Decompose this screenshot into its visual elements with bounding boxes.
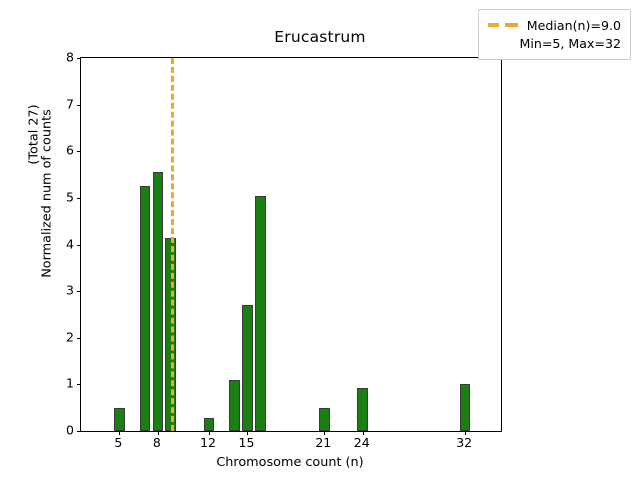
y-axis-tick-label: 3 [52, 283, 74, 298]
bar [140, 186, 151, 431]
bar [319, 408, 330, 431]
y-axis-tick-label: 5 [52, 189, 74, 204]
y-axis-subtitle: (Total 27) [27, 0, 42, 285]
y-axis-tick [77, 291, 81, 292]
y-axis-tick [77, 245, 81, 246]
legend-label-median: Median(n)=9.0 [527, 18, 621, 33]
y-axis-title: Normalized num of counts [40, 4, 55, 384]
bar [255, 196, 266, 431]
x-axis-title: Chromosome count (n) [80, 455, 500, 470]
y-axis-tick [77, 198, 81, 199]
bar [153, 172, 164, 431]
x-axis-tick-label: 15 [226, 435, 266, 450]
bars-layer [81, 58, 501, 431]
y-axis-tick [77, 58, 81, 59]
bar [357, 388, 368, 431]
bar [242, 305, 253, 431]
legend: Median(n)=9.0 Min=5, Max=32 [478, 9, 631, 60]
bar [114, 408, 125, 431]
y-axis-tick [77, 151, 81, 152]
dashed-line-icon [488, 23, 518, 27]
x-axis-tick-label: 32 [444, 435, 484, 450]
y-axis-tick-label: 8 [52, 50, 74, 65]
y-axis-tick [77, 338, 81, 339]
x-axis-tick-label: 5 [98, 435, 138, 450]
x-axis-tick-label: 8 [137, 435, 177, 450]
legend-label-minmax: Min=5, Max=32 [488, 36, 621, 51]
median-line [171, 58, 174, 431]
bar [460, 384, 471, 431]
y-axis-tick-label: 4 [52, 236, 74, 251]
bar [229, 380, 240, 431]
legend-entry-median: Median(n)=9.0 [488, 16, 621, 34]
x-axis-tick-label: 21 [303, 435, 343, 450]
x-axis-tick-label: 12 [188, 435, 228, 450]
bar [204, 418, 215, 431]
legend-entry-minmax: Min=5, Max=32 [488, 34, 621, 52]
y-axis-tick [77, 384, 81, 385]
y-axis-tick-label: 0 [52, 423, 74, 438]
x-axis-tick-label: 24 [342, 435, 382, 450]
y-axis-tick [77, 105, 81, 106]
x-axis-tick-labels: 581215212432 [80, 435, 500, 453]
y-axis-tick-label: 1 [52, 376, 74, 391]
y-axis-tick-label: 2 [52, 329, 74, 344]
chart-figure: Erucastrum 012345678 Normalized num of c… [0, 0, 640, 480]
y-axis-tick-label: 6 [52, 143, 74, 158]
y-axis-tick-label: 7 [52, 96, 74, 111]
plot-area [80, 57, 502, 432]
y-axis-tick [77, 431, 81, 432]
